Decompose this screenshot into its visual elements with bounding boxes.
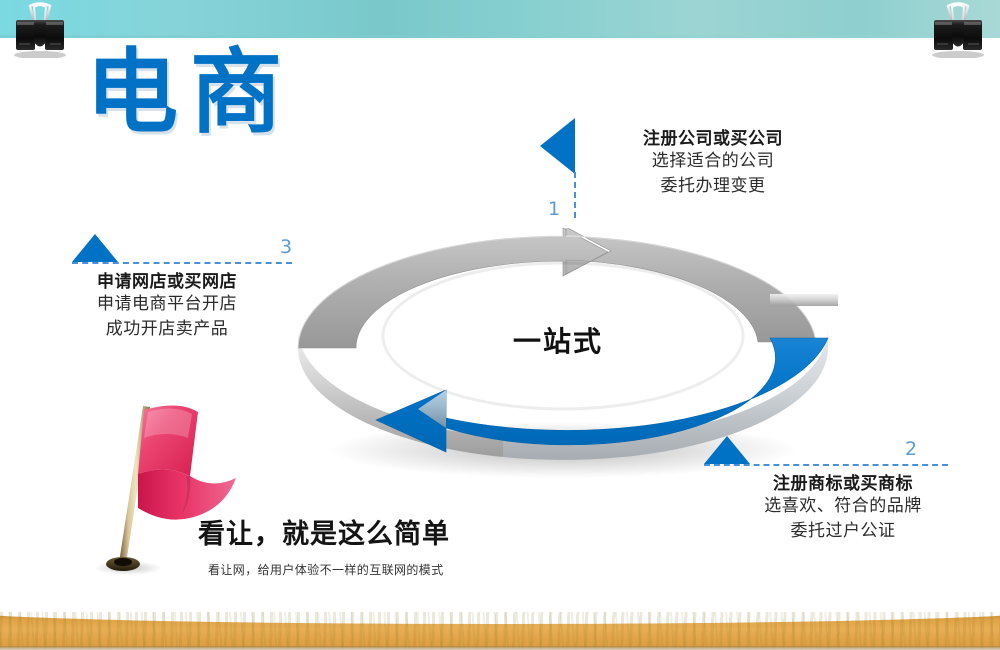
slogan-headline: 看让，就是这么简单	[198, 512, 618, 551]
step-2-text: 注册商标或买商标 选喜欢、符合的品牌 委托过户公证	[718, 469, 968, 543]
step-2-line-1: 选喜欢、符合的品牌	[718, 494, 968, 519]
binder-clip-right-icon	[928, 0, 988, 58]
left-triangle-icon	[540, 118, 575, 174]
step-3-text: 申请网店或买网店 申请电商平台开店 成功开店卖产品	[52, 267, 282, 341]
wheat-texture	[0, 612, 1000, 650]
step-1-line-2: 委托办理变更	[588, 174, 838, 199]
slogan-block: 看让，就是这么简单 看让网，给用户体验不一样的互联网的模式	[198, 512, 618, 578]
binder-clip-left-icon	[10, 0, 70, 58]
step-1-line-1: 选择适合的公司	[588, 149, 838, 174]
up-triangle-icon	[704, 436, 750, 464]
step-3-number: 3	[280, 238, 292, 257]
cycle-diagram: 一站式	[278, 228, 838, 478]
slogan-subtext: 看让网，给用户体验不一样的互联网的模式	[208, 561, 618, 578]
bottom-banner	[0, 608, 1000, 650]
slide-canvas: 电商	[0, 0, 1000, 650]
step-3-line-1: 申请电商平台开店	[52, 292, 282, 317]
step-1-number: 1	[548, 200, 560, 219]
step-2-number: 2	[905, 440, 917, 459]
step-3-line-2: 成功开店卖产品	[52, 317, 282, 342]
step-2-title: 注册商标或买商标	[718, 469, 968, 494]
step-1-title: 注册公司或买公司	[588, 124, 838, 149]
dashed-rule	[704, 464, 948, 466]
step-3-title: 申请网店或买网店	[52, 267, 282, 292]
step-1-marker: 1	[540, 118, 580, 223]
step-2-line-2: 委托过户公证	[718, 519, 968, 544]
page-title: 电商	[86, 47, 294, 139]
step-1-text: 注册公司或买公司 选择适合的公司 委托办理变更	[588, 124, 838, 198]
dashed-rule	[72, 262, 292, 264]
up-triangle-icon	[72, 234, 118, 262]
dashed-stem	[574, 172, 576, 218]
top-banner	[0, 0, 1000, 38]
